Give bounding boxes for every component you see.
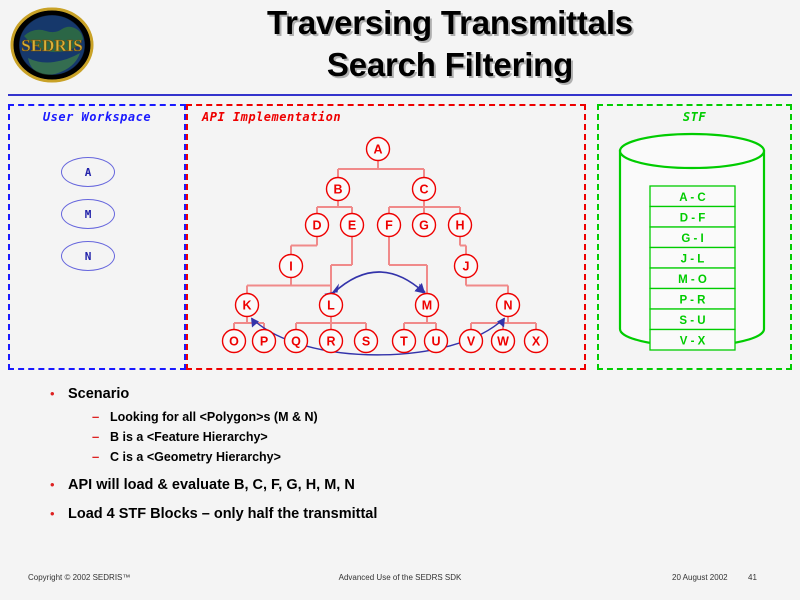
sedris-globe-logo: SEDRIS <box>8 6 96 84</box>
stf-block-6[interactable]: P - R <box>650 289 735 310</box>
panel-user-workspace: User Workspace <box>8 104 186 370</box>
bullet-dash-icon: – <box>92 430 110 443</box>
tree-node-f[interactable]: F <box>378 214 401 237</box>
bullet-text: Scenario <box>68 384 129 404</box>
bullet-item-level-1: •API will load & evaluate B, C, F, G, H,… <box>50 475 650 495</box>
footer-date: 20 August 2002 <box>672 573 728 582</box>
stf-block-label: J - L <box>681 253 705 265</box>
tree-node-r[interactable]: R <box>320 330 343 353</box>
tree-node-label: J <box>463 260 470 274</box>
tree-node-n[interactable]: N <box>497 294 520 317</box>
workspace-node-m[interactable]: M <box>61 199 115 229</box>
tree-node-label: E <box>348 219 356 233</box>
stf-block-label: G - I <box>681 233 703 245</box>
tree-node-label: I <box>289 260 292 274</box>
bullet-item-level-2: –Looking for all <Polygon>s (M & N) <box>92 408 650 426</box>
tree-node-g[interactable]: G <box>413 214 436 237</box>
bullet-item-level-2: –B is a <Feature Hierarchy> <box>92 428 650 446</box>
stf-block-label: P - R <box>680 294 707 306</box>
bullet-dot-icon: • <box>50 507 68 520</box>
tree-node-label: N <box>503 299 512 313</box>
tree-node-label: B <box>333 183 342 197</box>
bullet-item-level-1: •Scenario <box>50 384 650 404</box>
page-title: Traversing Transmittals Search Filtering <box>110 2 790 86</box>
workspace-node-a[interactable]: A <box>61 157 115 187</box>
tree-node-p[interactable]: P <box>253 330 276 353</box>
stf-block-label: D - F <box>680 212 706 224</box>
api-tree-diagram: ABCDEFGHIJKLMNOPQRSTUVWX <box>186 104 586 370</box>
tree-node-label: S <box>362 335 370 349</box>
workspace-node-n[interactable]: N <box>61 241 115 271</box>
tree-node-label: L <box>327 299 335 313</box>
tree-node-i[interactable]: I <box>280 255 303 278</box>
stf-block-7[interactable]: S - U <box>650 309 735 330</box>
bullet-dash-icon: – <box>92 450 110 463</box>
tree-node-w[interactable]: W <box>492 330 515 353</box>
tree-node-label: G <box>419 219 429 233</box>
bullet-list: •Scenario–Looking for all <Polygon>s (M … <box>50 384 650 528</box>
tree-edge-group <box>234 161 536 330</box>
tree-node-label: O <box>229 335 239 349</box>
stf-block-label: A - C <box>679 192 705 204</box>
title-line-2: Search Filtering <box>110 44 790 86</box>
title-line-1: Traversing Transmittals <box>110 2 790 44</box>
reference-arc-l-m <box>334 272 424 293</box>
tree-node-l[interactable]: L <box>320 294 343 317</box>
tree-node-b[interactable]: B <box>327 178 350 201</box>
tree-node-label: D <box>312 219 321 233</box>
footer-page-number: 41 <box>748 573 757 582</box>
stf-block-label: M - O <box>678 274 707 286</box>
tree-node-m[interactable]: M <box>416 294 439 317</box>
tree-node-label: P <box>260 335 268 349</box>
stf-block-3[interactable]: G - I <box>650 227 735 248</box>
tree-node-label: F <box>385 219 393 233</box>
stf-block-label: V - X <box>680 335 706 347</box>
slide-header: SEDRIS Traversing Transmittals Search Fi… <box>0 0 800 95</box>
tree-node-k[interactable]: K <box>236 294 259 317</box>
bullet-dash-icon: – <box>92 410 110 423</box>
bullet-dot-icon: • <box>50 387 68 400</box>
panel-user-workspace-label: User Workspace <box>10 110 184 124</box>
tree-node-h[interactable]: H <box>449 214 472 237</box>
stf-block-2[interactable]: D - F <box>650 207 735 228</box>
tree-node-c[interactable]: C <box>413 178 436 201</box>
tree-node-label: T <box>400 335 408 349</box>
bullet-text: API will load & evaluate B, C, F, G, H, … <box>68 475 355 495</box>
tree-node-label: H <box>455 219 464 233</box>
tree-node-label: K <box>242 299 251 313</box>
tree-node-label: R <box>326 335 335 349</box>
tree-node-u[interactable]: U <box>425 330 448 353</box>
tree-node-t[interactable]: T <box>393 330 416 353</box>
bullet-text: Looking for all <Polygon>s (M & N) <box>110 408 318 426</box>
bullet-text: Load 4 STF Blocks – only half the transm… <box>68 504 377 524</box>
stf-block-1[interactable]: A - C <box>650 186 735 207</box>
tree-node-label: A <box>373 143 382 157</box>
tree-node-x[interactable]: X <box>525 330 548 353</box>
tree-node-label: Q <box>291 335 301 349</box>
tree-node-q[interactable]: Q <box>285 330 308 353</box>
tree-node-e[interactable]: E <box>341 214 364 237</box>
tree-node-label: V <box>467 335 476 349</box>
stf-block-5[interactable]: M - O <box>650 268 735 289</box>
tree-node-label: X <box>532 335 541 349</box>
tree-node-v[interactable]: V <box>460 330 483 353</box>
tree-node-label: M <box>422 299 432 313</box>
stf-block-label: S - U <box>679 315 705 327</box>
tree-node-j[interactable]: J <box>455 255 478 278</box>
tree-node-label: U <box>431 335 440 349</box>
title-divider <box>8 94 792 96</box>
tree-node-a[interactable]: A <box>367 138 390 161</box>
tree-node-label: C <box>419 183 428 197</box>
stf-block-8[interactable]: V - X <box>650 330 735 351</box>
bullet-text: C is a <Geometry Hierarchy> <box>110 448 281 466</box>
stf-block-4[interactable]: J - L <box>650 248 735 269</box>
logo-wordmark: SEDRIS <box>21 36 82 55</box>
tree-node-o[interactable]: O <box>223 330 246 353</box>
tree-node-label: W <box>497 335 509 349</box>
stf-cylinder-diagram: A - CD - FG - IJ - LM - OP - RS - UV - X <box>597 104 792 370</box>
bullet-item-level-1: •Load 4 STF Blocks – only half the trans… <box>50 504 650 524</box>
slide-footer: Copyright © 2002 SEDRIS™ Advanced Use of… <box>0 566 800 590</box>
tree-node-s[interactable]: S <box>355 330 378 353</box>
bullet-item-level-2: –C is a <Geometry Hierarchy> <box>92 448 650 466</box>
bullet-dot-icon: • <box>50 478 68 491</box>
tree-node-d[interactable]: D <box>306 214 329 237</box>
stf-block-group: A - CD - FG - IJ - LM - OP - RS - UV - X <box>650 186 735 350</box>
bullet-text: B is a <Feature Hierarchy> <box>110 428 268 446</box>
